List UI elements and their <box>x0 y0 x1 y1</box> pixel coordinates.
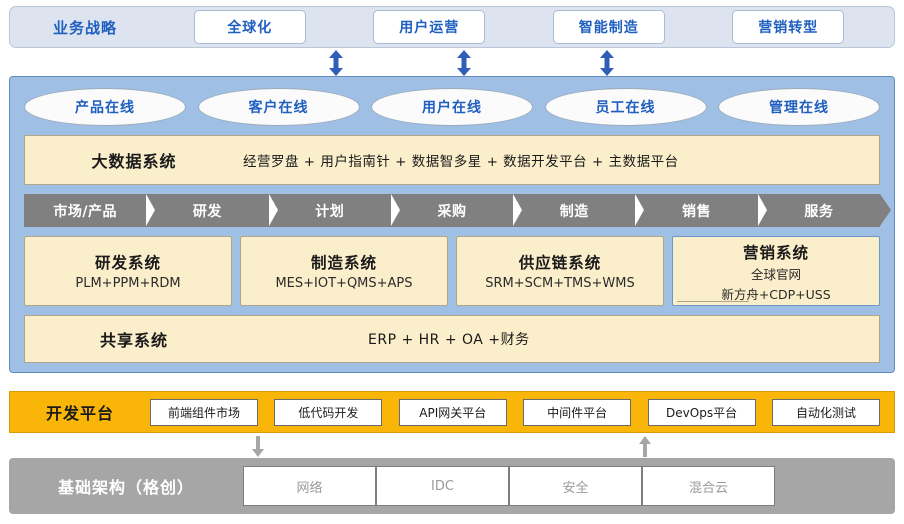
system-card-supply-chain[interactable]: 供应链系统 SRM+SCM+TMS+WMS <box>456 236 664 306</box>
process-stage-market-product[interactable]: 市场/产品 <box>24 194 146 227</box>
double-arrow-icon-3 <box>598 50 616 76</box>
strategy-chip-globalization[interactable]: 全球化 <box>194 10 306 44</box>
process-stage-purchase[interactable]: 采购 <box>391 194 513 227</box>
dev-chip-devops[interactable]: DevOps平台 <box>648 399 756 426</box>
infrastructure-band: 基础架构（格创） 网络 IDC 安全 混合云 <box>9 458 895 514</box>
ellipse-employee-online[interactable]: 员工在线 <box>545 88 707 126</box>
system-card-marketing[interactable]: 营销系统 全球官网 新方舟+CDP+USS <box>672 236 880 306</box>
double-arrow-icon-1 <box>327 50 345 76</box>
double-arrow-icon-2 <box>455 50 473 76</box>
infra-chip-security[interactable]: 安全 <box>509 466 642 506</box>
dev-chip-automated-testing[interactable]: 自动化测试 <box>772 399 880 426</box>
infrastructure-title: 基础架构（格创） <box>9 474 243 498</box>
system-card-manufacturing-title: 制造系统 <box>311 251 377 273</box>
process-stage-sales[interactable]: 销售 <box>635 194 757 227</box>
marketing-card-divider <box>677 301 749 302</box>
system-card-marketing-website: 全球官网 <box>751 264 801 283</box>
development-platform-title: 开发平台 <box>10 400 150 424</box>
system-card-manufacturing-components: MES+IOT+QMS+APS <box>275 276 412 291</box>
system-card-supply-chain-components: SRM+SCM+TMS+WMS <box>485 276 634 291</box>
business-strategy-band: 业务战略 全球化 用户运营 智能制造 营销转型 <box>9 6 895 48</box>
strategy-chip-user-operations[interactable]: 用户运营 <box>373 10 485 44</box>
business-strategy-items: 全球化 用户运营 智能制造 营销转型 <box>160 10 894 44</box>
strategy-chip-smart-manufacturing[interactable]: 智能制造 <box>553 10 665 44</box>
strategy-chip-marketing-transformation[interactable]: 营销转型 <box>732 10 844 44</box>
system-card-manufacturing[interactable]: 制造系统 MES+IOT+QMS+APS <box>240 236 448 306</box>
ellipse-product-online[interactable]: 产品在线 <box>24 88 186 126</box>
ellipse-customer-online[interactable]: 客户在线 <box>198 88 360 126</box>
arrow-down-icon <box>251 436 265 458</box>
dev-chip-frontend-component-market[interactable]: 前端组件市场 <box>150 399 258 426</box>
dev-chip-low-code[interactable]: 低代码开发 <box>274 399 382 426</box>
shared-system-components: ERP + HR + OA +财务 <box>368 329 530 349</box>
arrow-up-icon <box>638 436 652 458</box>
process-stage-rd[interactable]: 研发 <box>146 194 268 227</box>
value-chain-process-row: 市场/产品 研发 计划 采购 制造 销售 服务 <box>24 194 880 227</box>
ellipse-user-online[interactable]: 用户在线 <box>371 88 533 126</box>
process-stage-plan[interactable]: 计划 <box>269 194 391 227</box>
core-systems-panel: 产品在线 客户在线 用户在线 员工在线 管理在线 大数据系统 经营罗盘 + 用户… <box>9 76 895 373</box>
system-card-marketing-title: 营销系统 <box>743 241 809 263</box>
infra-chip-network[interactable]: 网络 <box>243 466 376 506</box>
shared-system-title: 共享系统 <box>25 327 243 351</box>
online-capabilities-row: 产品在线 客户在线 用户在线 员工在线 管理在线 <box>24 87 880 127</box>
infrastructure-items: 网络 IDC 安全 混合云 <box>243 466 895 506</box>
development-platform-items: 前端组件市场 低代码开发 API网关平台 中间件平台 DevOps平台 自动化测… <box>150 399 894 426</box>
business-strategy-title: 业务战略 <box>10 17 160 38</box>
dev-chip-middleware[interactable]: 中间件平台 <box>523 399 631 426</box>
development-platform-band: 开发平台 前端组件市场 低代码开发 API网关平台 中间件平台 DevOps平台… <box>9 391 895 433</box>
system-card-rd-title: 研发系统 <box>95 251 161 273</box>
bigdata-system-title: 大数据系统 <box>25 148 243 172</box>
process-stage-service[interactable]: 服务 <box>758 194 880 227</box>
infra-chip-idc[interactable]: IDC <box>376 466 509 506</box>
dev-chip-api-gateway[interactable]: API网关平台 <box>399 399 507 426</box>
ellipse-management-online[interactable]: 管理在线 <box>718 88 880 126</box>
bigdata-system-components: 经营罗盘 + 用户指南针 + 数据智多星 + 数据开发平台 + 主数据平台 <box>243 150 679 170</box>
domain-systems-row: 研发系统 PLM+PPM+RDM 制造系统 MES+IOT+QMS+APS 供应… <box>24 236 880 306</box>
system-card-rd[interactable]: 研发系统 PLM+PPM+RDM <box>24 236 232 306</box>
infra-chip-hybrid-cloud[interactable]: 混合云 <box>642 466 775 506</box>
bigdata-system-card[interactable]: 大数据系统 经营罗盘 + 用户指南针 + 数据智多星 + 数据开发平台 + 主数… <box>24 135 880 185</box>
system-card-supply-chain-title: 供应链系统 <box>519 251 602 273</box>
system-card-rd-components: PLM+PPM+RDM <box>75 276 180 291</box>
architecture-diagram: 业务战略 全球化 用户运营 智能制造 营销转型 产品在线 客户在线 用户在线 员… <box>0 0 904 524</box>
process-stage-manufacture[interactable]: 制造 <box>513 194 635 227</box>
shared-system-card[interactable]: 共享系统 ERP + HR + OA +财务 <box>24 315 880 363</box>
